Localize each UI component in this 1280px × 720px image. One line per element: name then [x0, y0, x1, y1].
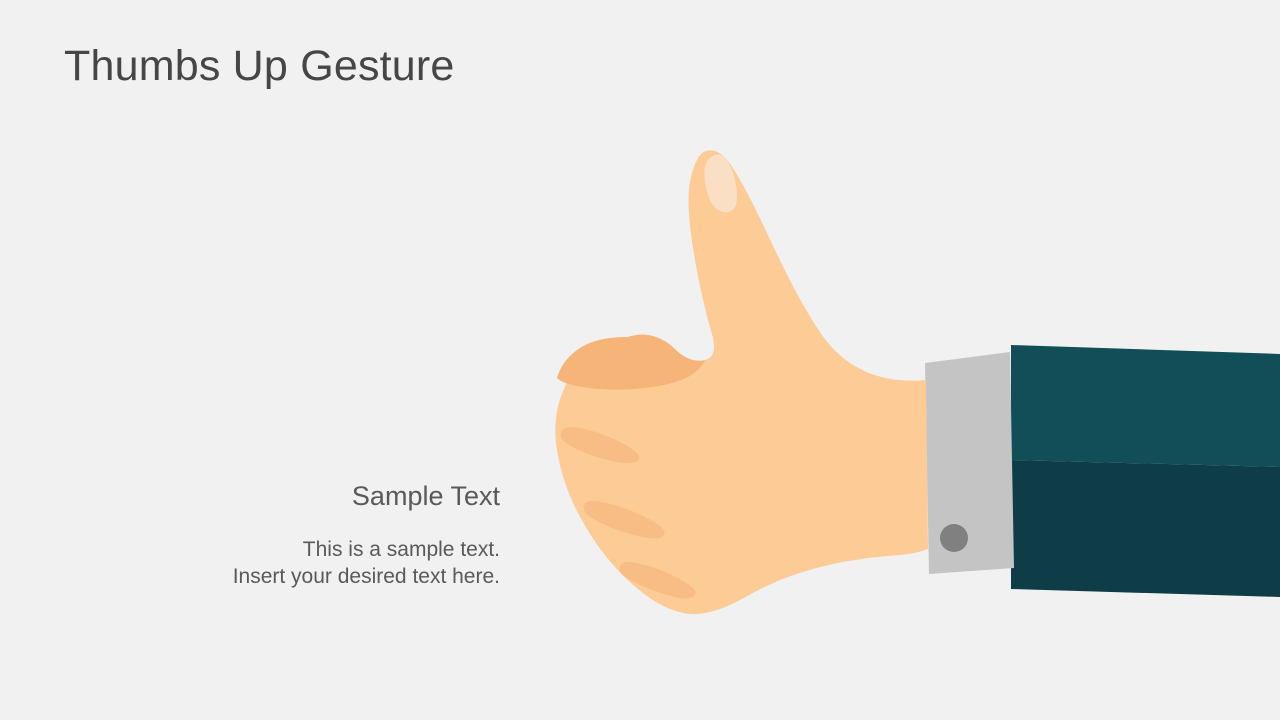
sample-text-body-line-2: Insert your desired text here. — [120, 563, 500, 591]
suit-sleeve-upper-band — [1011, 345, 1280, 467]
sample-text-body-line-1: This is a sample text. — [120, 536, 500, 564]
slide-canvas: Thumbs Up Gesture Sample Text This is a … — [0, 0, 1280, 720]
thumbs-up-illustration — [0, 0, 1280, 720]
fist — [555, 150, 928, 614]
text-block: Sample Text This is a sample text. Inser… — [120, 480, 500, 591]
sample-text-body: This is a sample text. Insert your desir… — [120, 536, 500, 591]
suit-sleeve-lower-band — [1011, 460, 1280, 597]
cuff-button-icon — [940, 524, 968, 552]
shirt-cuff — [925, 352, 1014, 574]
shirt-cuff-shape — [925, 352, 1014, 574]
finger-crease-lower — [620, 562, 696, 598]
page-title: Thumbs Up Gesture — [64, 42, 455, 91]
finger-crease-middle — [584, 501, 665, 538]
index-finger — [557, 335, 705, 390]
suit-sleeve — [1011, 345, 1280, 597]
thumbnail-icon — [704, 154, 737, 212]
hand — [555, 150, 928, 614]
finger-crease-upper — [561, 427, 640, 463]
sample-text-heading: Sample Text — [120, 480, 500, 514]
